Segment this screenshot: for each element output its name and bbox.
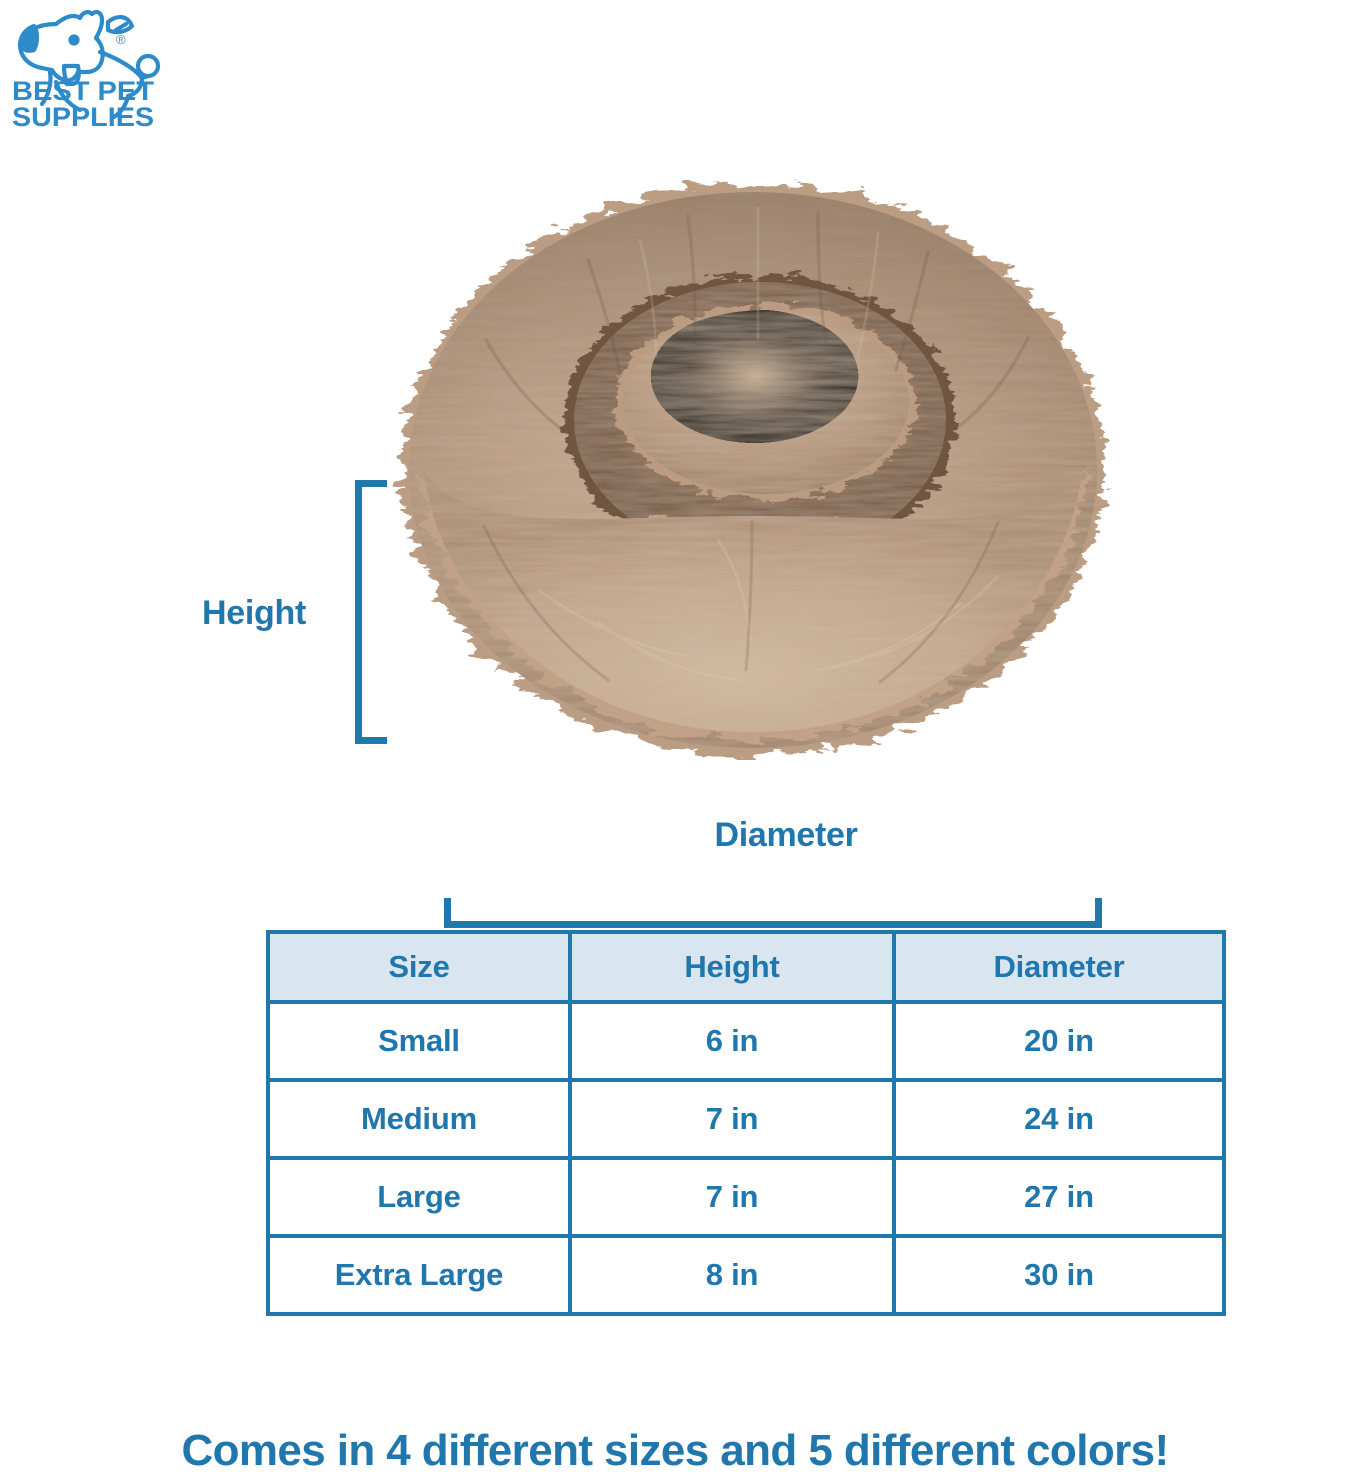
cell-size: Extra Large bbox=[268, 1236, 570, 1314]
table-header-row: Size Height Diameter bbox=[268, 932, 1224, 1002]
registered-mark: ® bbox=[116, 32, 126, 47]
height-bracket-tick-top bbox=[355, 480, 387, 487]
diameter-bracket-tick-left bbox=[444, 898, 451, 928]
cell-diameter: 30 in bbox=[894, 1236, 1224, 1314]
diameter-callout-label: Diameter bbox=[0, 816, 1350, 855]
column-header-height: Height bbox=[570, 932, 894, 1002]
dog-bed-photo bbox=[388, 170, 1118, 760]
cell-height: 8 in bbox=[570, 1236, 894, 1314]
diameter-bracket-spine bbox=[444, 921, 1102, 928]
product-image-area: Height bbox=[0, 150, 1350, 780]
table-row: Medium 7 in 24 in bbox=[268, 1080, 1224, 1158]
cell-height: 6 in bbox=[570, 1002, 894, 1080]
dog-line-art-icon: ® BEST PET SUPPLIES bbox=[8, 4, 168, 130]
cell-height: 7 in bbox=[570, 1158, 894, 1236]
tagline-text: Comes in 4 different sizes and 5 differe… bbox=[0, 1426, 1350, 1476]
height-bracket-spine bbox=[355, 480, 362, 744]
cell-height: 7 in bbox=[570, 1080, 894, 1158]
height-callout-label: Height bbox=[202, 594, 306, 633]
table-row: Small 6 in 20 in bbox=[268, 1002, 1224, 1080]
column-header-diameter: Diameter bbox=[894, 932, 1224, 1002]
diameter-bracket-tick-right bbox=[1095, 898, 1102, 928]
column-header-size: Size bbox=[268, 932, 570, 1002]
size-chart-table: Size Height Diameter Small 6 in 20 in Me… bbox=[266, 930, 1226, 1316]
cell-diameter: 20 in bbox=[894, 1002, 1224, 1080]
cell-size: Medium bbox=[268, 1080, 570, 1158]
table-row: Large 7 in 27 in bbox=[268, 1158, 1224, 1236]
height-measurement-bracket bbox=[355, 480, 387, 744]
table-row: Extra Large 8 in 30 in bbox=[268, 1236, 1224, 1314]
cell-size: Large bbox=[268, 1158, 570, 1236]
diameter-callout-text: Diameter bbox=[714, 816, 857, 855]
diameter-measurement-bracket bbox=[444, 898, 1102, 928]
cell-size: Small bbox=[268, 1002, 570, 1080]
cell-diameter: 27 in bbox=[894, 1158, 1224, 1236]
height-bracket-tick-bottom bbox=[355, 737, 387, 744]
cell-diameter: 24 in bbox=[894, 1080, 1224, 1158]
brand-name-line2: SUPPLIES bbox=[12, 102, 154, 130]
brand-logo: ® BEST PET SUPPLIES bbox=[8, 4, 168, 130]
